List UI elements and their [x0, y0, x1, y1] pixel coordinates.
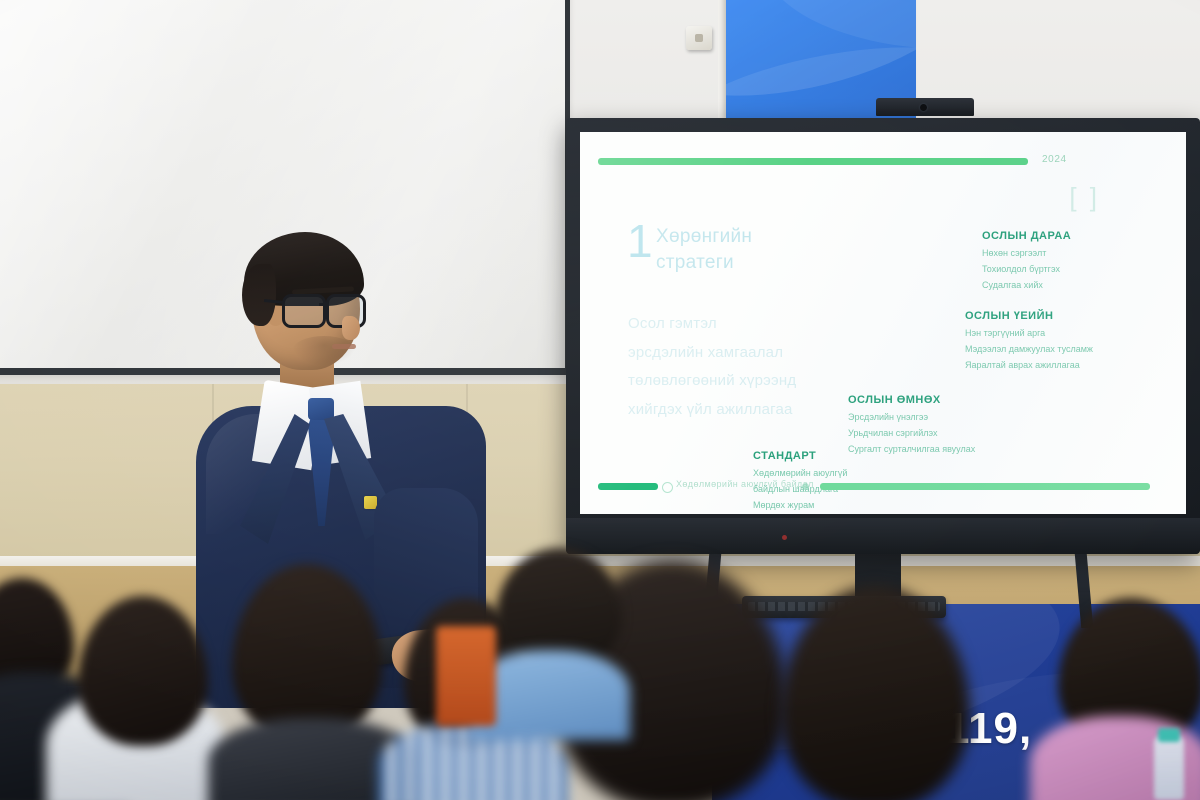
column-title: СТАНДАРТ [753, 450, 958, 462]
column-line: Судалгаа хийх [982, 278, 1172, 294]
bottom-dot-mark [802, 483, 809, 490]
presenter [196, 238, 486, 708]
column-title: ОСЛЫН ДАРАА [982, 230, 1172, 242]
column-line: Нөхөн сэргээлт [982, 246, 1172, 262]
slide-top-bar: 2024 [598, 158, 1186, 165]
slide-left-line: Осол гэмтэл [628, 310, 878, 339]
presentation-slide: 2024 1 Хөрөнгийн стратеги Осол гэмтэл эр… [580, 132, 1186, 514]
necktie-knot [308, 398, 334, 420]
audience-body [378, 722, 568, 800]
column-line: Мөрдөх журам [753, 498, 958, 514]
slide-bottom-bar: Хөдөлмөрийн аюулгүй байдал [598, 483, 1186, 490]
power-led [782, 535, 787, 540]
audience-body [0, 672, 130, 800]
column-title: ОСЛЫН ӨМНӨХ [848, 394, 1068, 406]
slide-footer-caption: Хөдөлмөрийн аюулгүй байдал [676, 479, 814, 489]
bottom-accent-left [598, 483, 658, 490]
stage-banner [712, 604, 1200, 800]
column-title: ОСЛЫН ҮЕИЙН [965, 310, 1180, 322]
interactive-display[interactable]: 2024 1 Хөрөнгийн стратеги Осол гэмтэл эр… [566, 118, 1200, 554]
top-accent-bar [598, 158, 1028, 165]
bottom-accent-right [820, 483, 1150, 490]
nose [342, 316, 360, 340]
slide-column-after: ОСЛЫН ДАРАА Нөхөн сэргээлт Тохиолдол бүр… [982, 230, 1172, 293]
display-bezel-bottom [566, 518, 1200, 554]
keyboard[interactable] [742, 596, 946, 618]
column-line: Урьдчилан сэргийлэх [848, 426, 1068, 442]
slide-heading: Хөрөнгийн стратеги [656, 224, 886, 275]
slide-left-line: төлөвлөгөөний хүрээнд [628, 367, 878, 396]
display-screen[interactable]: 2024 1 Хөрөнгийн стратеги Осол гэмтэл эр… [580, 132, 1186, 514]
mouth [332, 344, 356, 349]
wall-sensor-box [686, 26, 712, 50]
slide-left-line: эрсдэлийн хамгаалал [628, 339, 878, 368]
glasses-lens-left [282, 294, 326, 328]
bottom-circle-mark [662, 482, 673, 493]
glasses-bridge [319, 303, 328, 306]
conference-camera [876, 98, 974, 116]
slide-left-text-block: Осол гэмтэл эрсдэлийн хамгаалал төлөвлөг… [628, 310, 878, 424]
audience-body [208, 718, 418, 800]
column-line: Нэн тэргүүний арга [965, 326, 1180, 342]
column-line: Тохиолдол бүртгэх [982, 262, 1172, 278]
banner-number: 119, [945, 704, 1032, 754]
slide-year-label: 2024 [1042, 154, 1067, 165]
slide-column-during: ОСЛЫН ҮЕИЙН Нэн тэргүүний арга Мэдээлэл … [965, 310, 1180, 373]
slide-left-line: хийгдэх үйл ажиллагаа [628, 396, 878, 425]
slide-column-before: ОСЛЫН ӨМНӨХ Эрсдэлийн үнэлгээ Урьдчилан … [848, 394, 1068, 457]
column-line: Яаралтай аврах ажиллагаа [965, 358, 1180, 374]
slide-heading-line1: Хөрөнгийн [656, 224, 886, 250]
slide-section-number: 1 [627, 218, 653, 264]
slide-heading-line2: стратеги [656, 250, 886, 276]
chin-shadow [292, 336, 356, 366]
column-line: Дүрэм зааврын хэрэгжилт [753, 513, 958, 514]
column-line: Эрсдэлийн үнэлгээ [848, 410, 1068, 426]
hair-sideburn [242, 264, 276, 326]
column-line: Мэдээлэл дамжуулах тусламж [965, 342, 1180, 358]
bracket-glyph: [ ] [1069, 182, 1100, 213]
presentation-photo: 119, 2024 1 Хөрөнгийн стратеги [0, 0, 1200, 800]
